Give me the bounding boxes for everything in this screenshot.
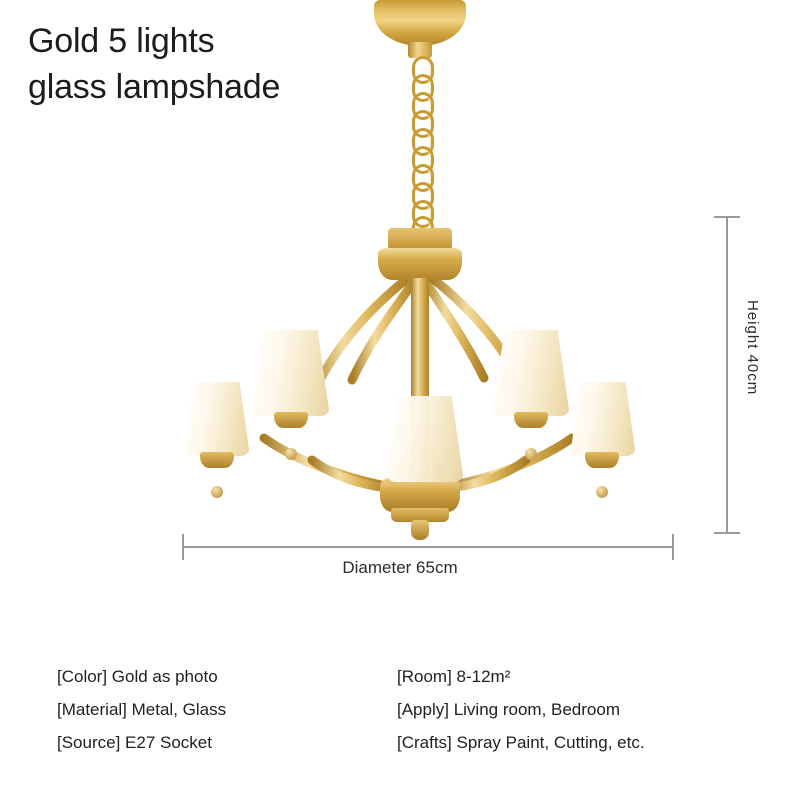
bottom-finial <box>411 520 429 540</box>
upper-hub <box>378 248 462 280</box>
socket-far-right <box>585 452 619 468</box>
height-dimension-label: Height 40cm <box>744 300 761 395</box>
lampshade-left <box>252 330 330 416</box>
product-spec-image: Gold 5 lights glass lampshade <box>0 0 800 800</box>
spec-source: [Source] E27 Socket <box>57 726 226 759</box>
knob-right <box>525 448 537 460</box>
spec-column-right: [Room] 8-12m² [Apply] Living room, Bedro… <box>397 660 645 759</box>
lower-hub <box>380 478 460 512</box>
spec-material: [Material] Metal, Glass <box>57 693 226 726</box>
spec-crafts: [Crafts] Spray Paint, Cutting, etc. <box>397 726 645 759</box>
upper-cup <box>388 228 452 250</box>
spec-apply: [Apply] Living room, Bedroom <box>397 693 645 726</box>
spec-color: [Color] Gold as photo <box>57 660 226 693</box>
knob-far-left <box>211 486 223 498</box>
chandelier-product-image <box>140 0 680 620</box>
lampshade-right <box>492 330 570 416</box>
hanging-chain <box>412 56 428 232</box>
socket-left <box>274 412 308 428</box>
lampshade-far-right <box>570 382 636 456</box>
knob-left <box>285 448 297 460</box>
spec-room: [Room] 8-12m² <box>397 660 645 693</box>
chandelier-arms-svg <box>140 0 680 620</box>
lampshade-center <box>386 396 464 482</box>
knob-far-right <box>596 486 608 498</box>
spec-column-left: [Color] Gold as photo [Material] Metal, … <box>57 660 226 759</box>
diameter-dimension-line <box>182 546 674 548</box>
socket-far-left <box>200 452 234 468</box>
lampshade-far-left <box>184 382 250 456</box>
socket-right <box>514 412 548 428</box>
height-dimension-line <box>726 216 728 534</box>
diameter-dimension-label: Diameter 65cm <box>0 558 800 578</box>
